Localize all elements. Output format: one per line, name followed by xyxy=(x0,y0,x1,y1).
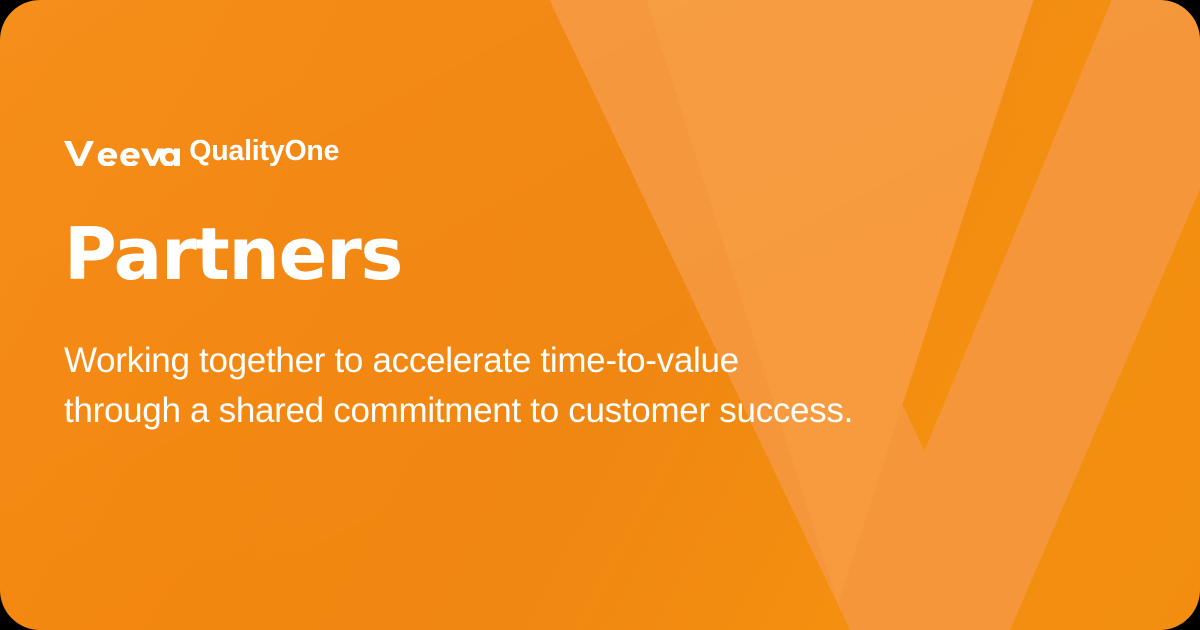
partners-banner-card: QualityOne Partners Working together to … xyxy=(0,0,1200,630)
page-subtitle: Working together to accelerate time-to-v… xyxy=(64,336,853,435)
logo-product-name: QualityOne xyxy=(189,137,339,166)
veeva-wordmark-icon xyxy=(64,136,180,166)
banner-content: QualityOne Partners Working together to … xyxy=(64,0,1124,630)
subtitle-line-1: Working together to accelerate time-to-v… xyxy=(64,336,853,386)
veeva-qualityone-logo: QualityOne xyxy=(64,134,339,168)
page-title: Partners xyxy=(64,217,402,293)
subtitle-line-2: through a shared commitment to customer … xyxy=(64,386,853,436)
